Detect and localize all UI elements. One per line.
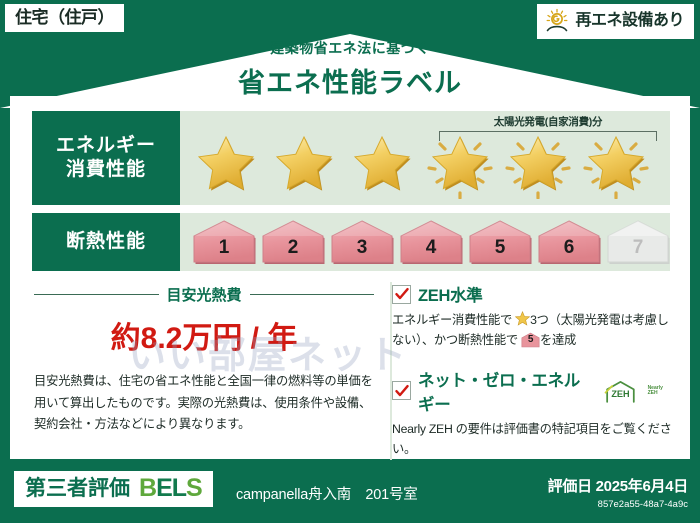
label-card: エネルギー 消費性能 太陽光発電(自家消費)分 [10,96,690,459]
zeh-standard-check: ZEH水準 エネルギー消費性能で 3つ（太陽光発電は考慮しない）、かつ断熱性能で… [392,282,672,351]
energy-cost-value: 約8.2万円 / 年 [34,313,374,357]
star-icon [190,131,262,199]
energy-star-5 [502,131,574,199]
bels-letter-b: B [139,474,156,502]
energy-performance-label: エネルギー 消費性能 [32,111,180,205]
evaluation-code: 857e2a55-48a7-4a9c [548,499,688,510]
title-main: 省エネ性能ラベル [0,61,700,100]
energy-performance-row: エネルギー 消費性能 太陽光発電(自家消費)分 [32,111,670,205]
house-number: 1 [191,237,257,259]
star-icon [580,131,652,199]
energy-star-1 [190,131,262,199]
insulation-house-5: 5 [467,219,533,265]
star-icon [346,131,418,199]
energy-label-line1: エネルギー [56,134,156,158]
rule-left [34,294,159,296]
sun-icon [544,8,570,34]
house-number: 5 [467,237,533,259]
insulation-house-1: 1 [191,219,257,265]
energy-rating-body: 太陽光発電(自家消費)分 [180,111,670,205]
zeh-logo-sublabel: Nearly ZEH [648,386,672,397]
energy-cost-block: 目安光熱費 約8.2万円 / 年 目安光熱費は、住宅の省エネ性能と全国一律の燃料… [34,284,374,436]
insulation-rating-body: 1 2 [180,213,670,271]
energy-star-6 [580,131,652,199]
label-title: 建築物省エネ法に基づく 省エネ性能ラベル [0,38,700,100]
bels-logo: 第三者評価 BELS [14,471,213,507]
inline-star-icon [515,311,530,326]
inline-house-badge: 5 [521,332,540,348]
svg-text:ZEH: ZEH [611,389,629,399]
bels-letter-el: EL [156,474,186,502]
check-icon [395,287,409,301]
bels-jp-text: 第三者評価 [25,478,130,499]
zeh-desc-part1: エネルギー消費性能で [392,313,512,327]
renewable-badge-label: 再エネ設備あり [575,13,684,29]
net-zero-row: ネット・ゼロ・エネルギー ZEH Nearly ZEH [392,367,672,415]
header-band: 住宅（住戸） 再エネ設備あり 建築物省エネ法に基づく 省エネ性能ラベル [0,0,700,108]
check-icon [395,384,409,398]
star-icon [268,131,340,199]
energy-cost-note: 目安光熱費は、住宅の省エネ性能と全国一律の燃料等の単価を用いて算出したものです。… [34,371,374,436]
energy-star-rating [190,131,652,199]
insulation-performance-label: 断熱性能 [32,213,180,271]
insulation-performance-row: 断熱性能 1 [32,213,670,271]
star-icon [502,131,574,199]
zeh-desc-part2: を達成 [540,333,576,347]
energy-label-line2: 消費性能 [66,158,146,182]
property-name: campanella舟入南 201号室 [236,483,418,504]
insulation-label-text: 断熱性能 [66,230,146,254]
star-icon [424,131,496,199]
zeh-standard-checkbox[interactable] [392,285,411,304]
house-number: 6 [536,237,602,259]
bels-en-text: BELS [139,476,202,501]
zeh-standard-title: ZEH水準 [418,282,483,306]
bels-letter-s: S [186,474,202,502]
house-number: 7 [605,237,671,259]
zeh-standard-row: ZEH水準 [392,282,672,306]
energy-cost-heading-text: 目安光熱費 [167,284,242,305]
house-number: 3 [329,237,395,259]
certification-checks: ZEH水準 エネルギー消費性能で 3つ（太陽光発電は考慮しない）、かつ断熱性能で… [390,282,672,460]
insulation-house-3: 3 [329,219,395,265]
solar-bracket-label: 太陽光発電(自家消費)分 [437,114,659,129]
energy-star-4 [424,131,496,199]
housing-type-tag: 住宅（住戸） [5,4,124,32]
insulation-house-scale: 1 2 [191,219,671,265]
energy-star-3 [346,131,418,199]
energy-cost-heading: 目安光熱費 [34,284,374,305]
house-number: 4 [398,237,464,259]
evaluation-info: 評価日 2025年6月4日 857e2a55-48a7-4a9c [548,475,688,510]
inline-house-number: 5 [521,332,540,348]
house-number: 2 [260,237,326,259]
title-subtitle: 建築物省エネ法に基づく [0,38,700,58]
net-zero-checkbox[interactable] [392,381,411,400]
net-zero-energy-check: ネット・ゼロ・エネルギー ZEH Nearly ZEH Nearly ZEH の… [392,367,672,460]
evaluation-date: 評価日 2025年6月4日 [548,475,688,496]
rule-right [250,294,375,296]
footer-band: 第三者評価 BELS campanella舟入南 201号室 評価日 2025年… [0,461,700,523]
renewable-energy-badge: 再エネ設備あり [537,4,694,39]
energy-star-2 [268,131,340,199]
net-zero-description: Nearly ZEH の要件は評価書の特記項目をご覧ください。 [392,420,672,460]
insulation-house-6: 6 [536,219,602,265]
zeh-logo-icon: ZEH [603,378,640,404]
zeh-standard-description: エネルギー消費性能で 3つ（太陽光発電は考慮しない）、かつ断熱性能で 5 を達成 [392,311,672,351]
insulation-house-2: 2 [260,219,326,265]
insulation-house-7: 7 [605,219,671,265]
net-zero-title: ネット・ゼロ・エネルギー [418,367,596,415]
insulation-house-4: 4 [398,219,464,265]
